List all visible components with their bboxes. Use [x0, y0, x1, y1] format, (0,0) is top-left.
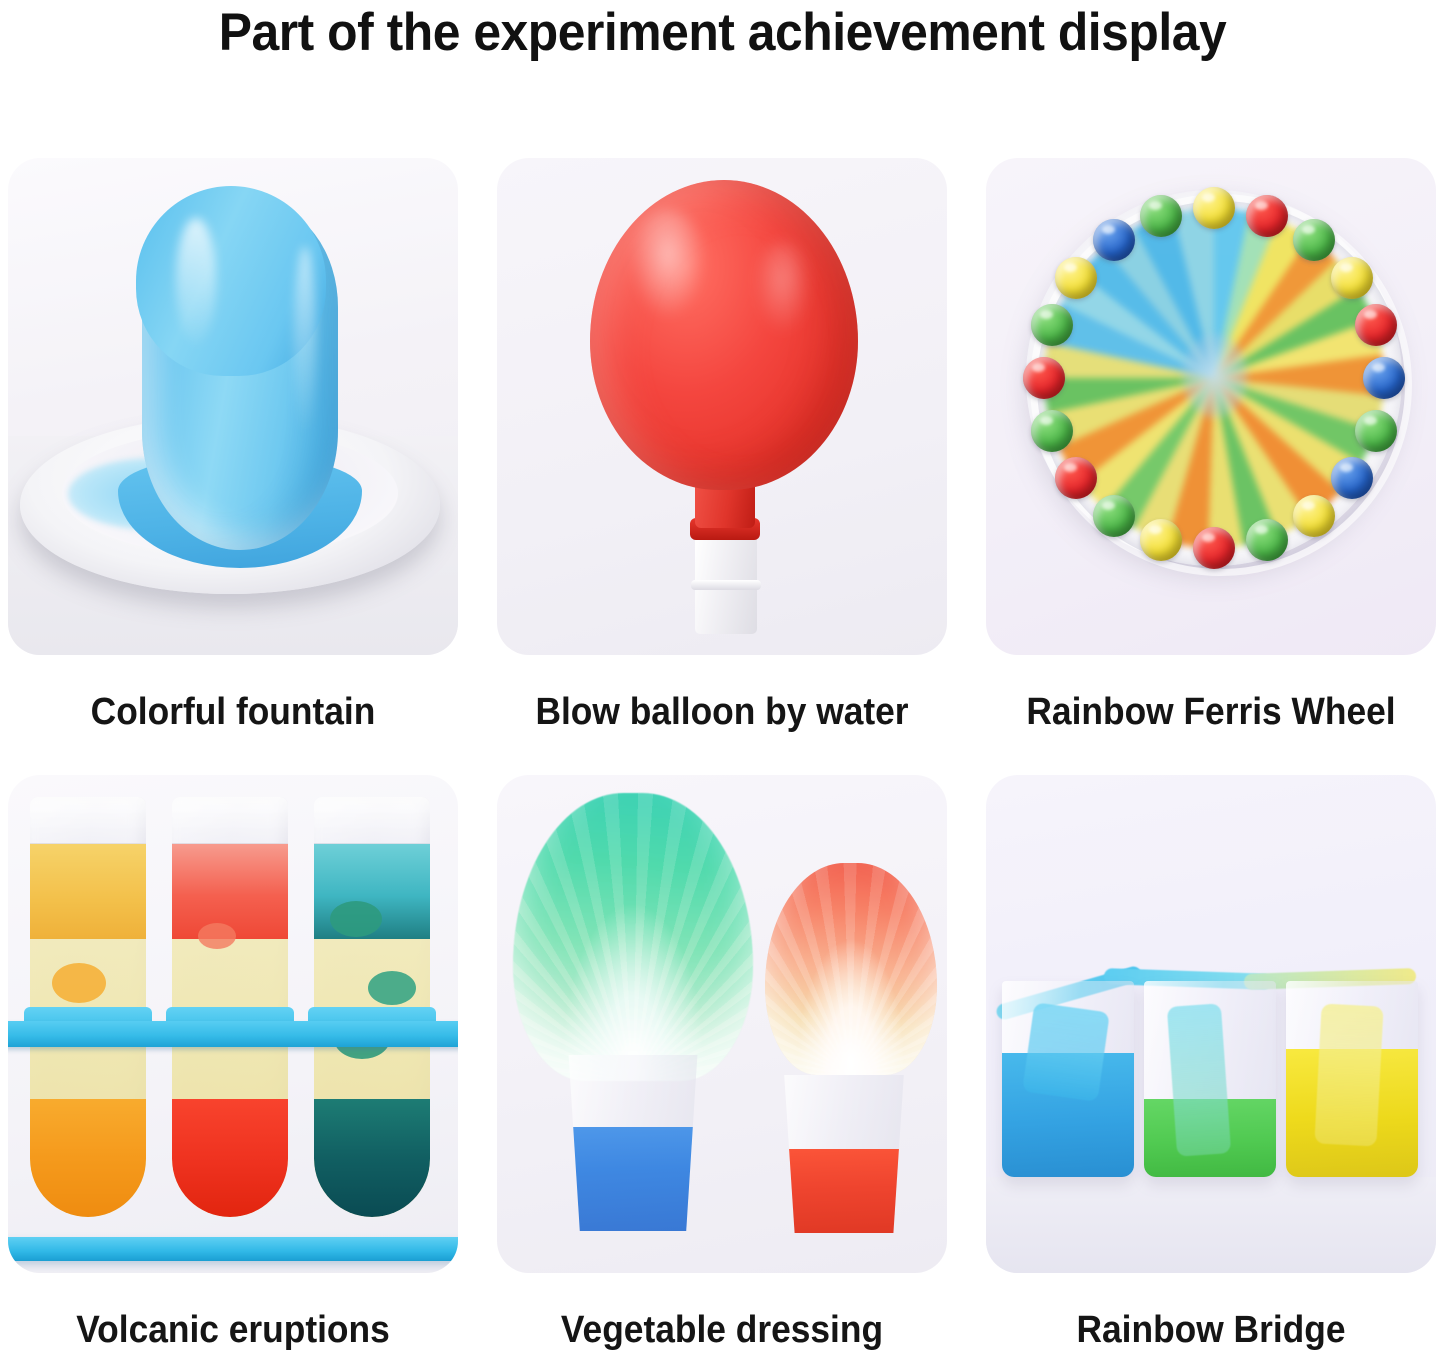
rack-bar	[8, 1021, 458, 1047]
page-title: Part of the experiment achievement displ…	[43, 2, 1401, 63]
blow-balloon-image	[497, 158, 947, 655]
candy-green	[1246, 519, 1288, 561]
teal-blob	[330, 901, 382, 937]
candy-red	[1246, 195, 1288, 237]
red-dye-liquid	[779, 1149, 909, 1233]
cabbage-leaf-red-texture	[765, 863, 937, 1075]
measuring-cup-blue	[563, 1055, 703, 1231]
caption-rainbow-ferris-wheel: Rainbow Ferris Wheel	[1002, 655, 1421, 775]
red-liquid	[172, 1099, 288, 1217]
tube-neck	[30, 797, 146, 844]
caption-rainbow-bridge: Rainbow Bridge	[1002, 1273, 1421, 1348]
red-blob	[198, 923, 236, 949]
paper-strip-in-blue	[1022, 1002, 1110, 1102]
rack-base	[8, 1237, 458, 1261]
candy-green	[1093, 495, 1135, 537]
teal-blob	[368, 971, 416, 1005]
candy-blue	[1363, 357, 1405, 399]
dish-rim	[1030, 194, 1412, 576]
panel-rainbow-bridge[interactable]	[986, 775, 1436, 1273]
table-surface	[986, 1177, 1436, 1273]
paper-strip-in-yellow	[1314, 1003, 1383, 1146]
candy-green	[1031, 410, 1073, 452]
orange-foam-head	[30, 843, 146, 939]
balloon-highlight-secondary	[755, 242, 811, 334]
panel-colorful-fountain[interactable]	[8, 158, 458, 655]
caption-volcanic-eruptions: Volcanic eruptions	[24, 1273, 443, 1348]
candy-red	[1355, 304, 1397, 346]
caption-vegetable-dressing: Vegetable dressing	[513, 1273, 932, 1348]
balloon-highlight	[629, 210, 707, 320]
teal-liquid	[314, 1099, 430, 1217]
panel-volcanic-eruptions[interactable]	[8, 775, 458, 1273]
cabbage-leaf-blue-texture	[513, 793, 753, 1081]
paper-strip-in-green	[1167, 1003, 1231, 1156]
red-foam-head	[172, 843, 288, 939]
candy-yellow	[1193, 187, 1235, 229]
orange-blob	[52, 963, 106, 1003]
panel-rainbow-ferris-wheel[interactable]	[986, 158, 1436, 655]
candy-blue	[1331, 457, 1373, 499]
orange-liquid	[30, 1099, 146, 1217]
colorful-fountain-image	[8, 158, 458, 655]
foam-highlight-right	[294, 246, 316, 436]
tube-neck	[314, 797, 430, 844]
red-balloon	[590, 180, 858, 490]
blue-dye-liquid	[563, 1127, 703, 1231]
candy-yellow	[1293, 495, 1335, 537]
panel-blow-balloon[interactable]	[497, 158, 947, 655]
candy-yellow	[1140, 519, 1182, 561]
candy-red	[1193, 527, 1235, 569]
measuring-cup-red	[779, 1075, 909, 1233]
rainbow-ferris-wheel-image	[986, 158, 1436, 655]
volcanic-eruptions-image	[8, 775, 458, 1273]
candy-red	[1023, 357, 1065, 399]
foam-highlight	[176, 218, 216, 344]
rainbow-bridge-image	[986, 775, 1436, 1273]
candy-yellow	[1331, 257, 1373, 299]
candy-green	[1355, 410, 1397, 452]
bottle-ring	[691, 580, 761, 590]
tube-neck	[172, 797, 288, 844]
panel-vegetable-dressing[interactable]	[497, 775, 947, 1273]
achievement-grid: Colorful fountain Blow balloon by water …	[8, 158, 1437, 1348]
vegetable-dressing-image	[497, 775, 947, 1273]
caption-colorful-fountain: Colorful fountain	[24, 655, 443, 775]
caption-blow-balloon: Blow balloon by water	[513, 655, 932, 775]
